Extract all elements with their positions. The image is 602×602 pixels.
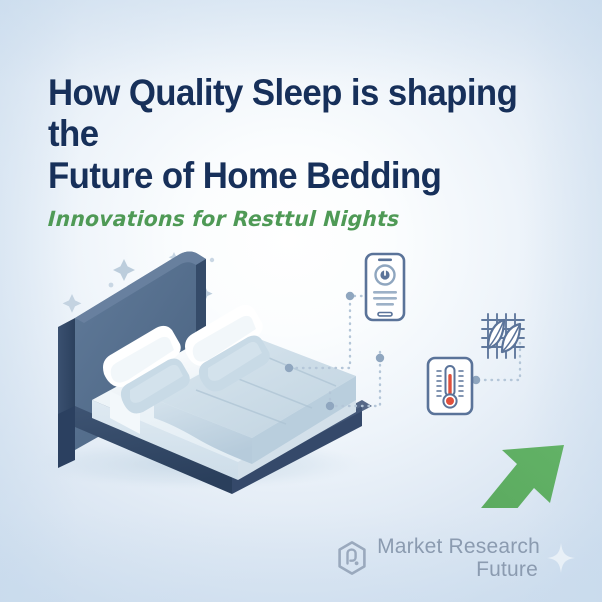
market-research-future-hexagon-logo xyxy=(337,541,367,575)
page-subtitle: Innovations for Resttul Nights xyxy=(47,207,568,231)
eco-fabric-leaf-icon xyxy=(482,314,524,358)
phone-body xyxy=(366,254,404,320)
page-title: How Quality Sleep is shaping the Future … xyxy=(48,72,552,196)
phone-home-button xyxy=(378,313,392,316)
infographic-poster: How Quality Sleep is shaping the Future … xyxy=(0,0,602,602)
sparkle-icon xyxy=(546,542,576,574)
thermometer-bulb xyxy=(446,397,454,405)
node-dot-phone-bottom xyxy=(376,354,384,362)
brand-logo[interactable]: Market Research Future xyxy=(337,536,576,580)
node-dot-bed xyxy=(285,364,293,372)
node-dot-thermo-left xyxy=(326,402,334,410)
growth-arrow-icon xyxy=(389,445,564,508)
logo-wordmark: Market Research Future xyxy=(377,536,540,580)
headline-block: How Quality Sleep is shaping the Future … xyxy=(48,72,584,231)
smartphone-sleep-tracker-icon xyxy=(366,254,404,320)
node-dot-phone xyxy=(346,292,354,300)
illustration-stage: Z Z Z xyxy=(0,228,602,508)
bed-frame-left xyxy=(58,406,75,468)
phone-speaker xyxy=(378,259,392,262)
logo-line-2: Future xyxy=(377,559,540,580)
logo-line-1: Market Research xyxy=(377,536,540,557)
phone-stat-lines xyxy=(373,291,397,306)
thermometer-icon xyxy=(428,358,472,414)
